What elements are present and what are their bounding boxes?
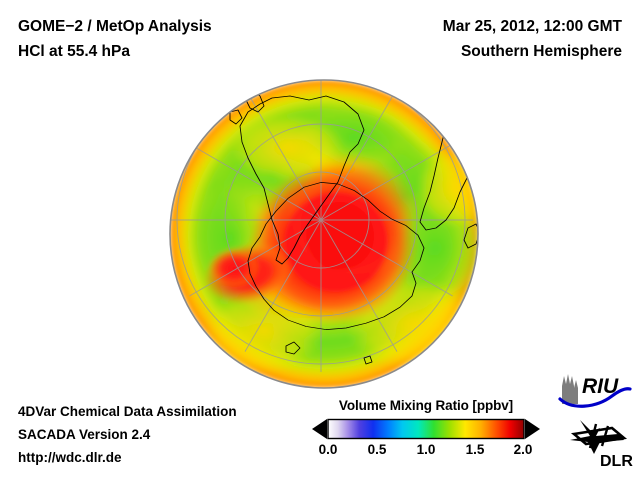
dlr-wordmark: DLR [600,453,633,470]
colorbar-tick-2: 1.0 [417,442,436,457]
colorbar-tick-4: 2.0 [514,442,533,457]
footer-url[interactable]: http://wdc.dlr.de [18,446,237,469]
colorbar-extend-high-arrow [525,419,540,439]
colorbar-tick-labels: 0.0 0.5 1.0 1.5 2.0 [312,442,540,460]
colorbar-tick-3: 1.5 [466,442,485,457]
timestamp-label: Mar 25, 2012, 12:00 GMT [443,14,622,39]
colorbar-ramp [312,417,540,441]
dlr-logo: DLR [566,414,636,470]
globe-map [168,78,480,390]
colorbar-title: Volume Mixing Ratio [ppbv] [312,398,540,413]
colorbar: Volume Mixing Ratio [ppbv] [312,398,540,460]
footer-method: 4DVar Chemical Data Assimilation [18,400,237,423]
cathedral-towers-icon [562,374,578,404]
riu-logo: RIU [556,370,632,410]
colorbar-tick-0: 0.0 [319,442,338,457]
footer-version: SACADA Version 2.4 [18,423,237,446]
title-line-instrument: GOME−2 / MetOp Analysis [18,14,212,39]
header-left-block: GOME−2 / MetOp Analysis HCl at 55.4 hPa [18,14,212,64]
colorbar-extend-low-arrow [312,419,327,439]
header-right-block: Mar 25, 2012, 12:00 GMT Southern Hemisph… [443,14,622,64]
title-line-species: HCl at 55.4 hPa [18,39,212,64]
hemisphere-label: Southern Hemisphere [443,39,622,64]
dlr-wing-icon [570,416,624,454]
colorbar-tick-1: 0.5 [368,442,387,457]
footer-left-block: 4DVar Chemical Data Assimilation SACADA … [18,400,237,469]
